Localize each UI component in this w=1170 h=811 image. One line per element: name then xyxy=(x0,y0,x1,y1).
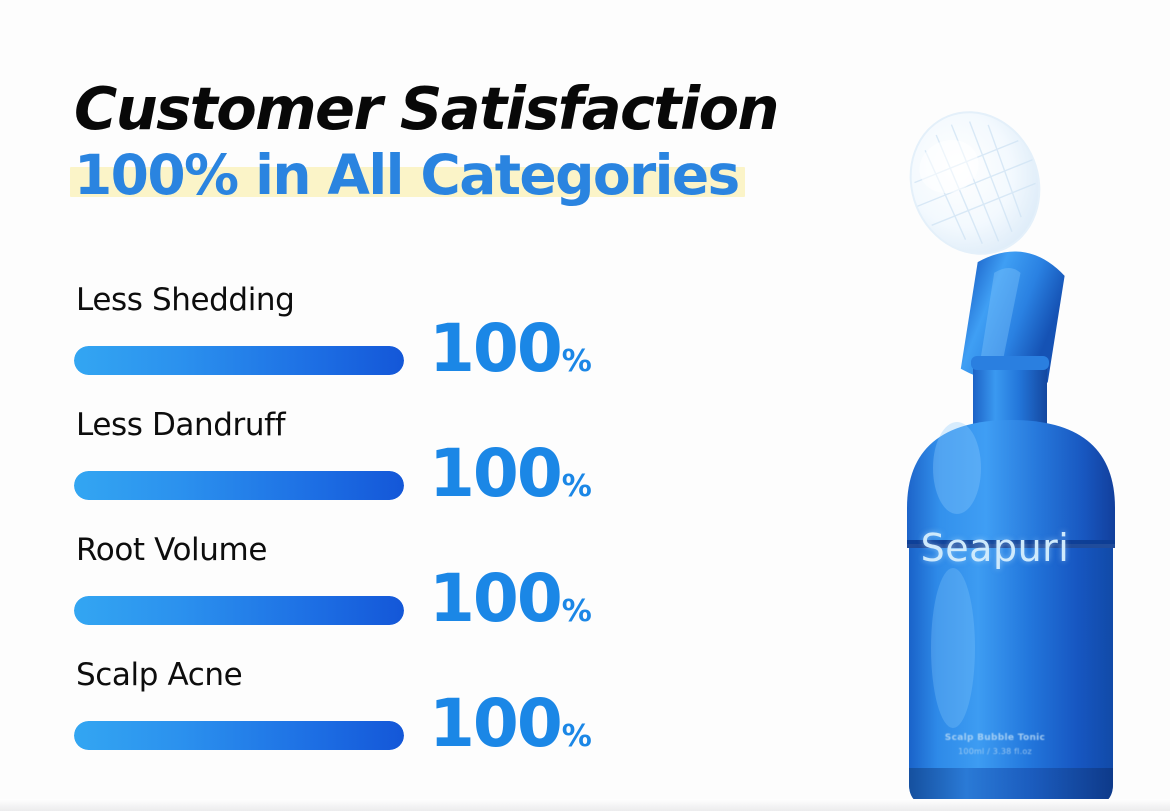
percent-sign: % xyxy=(562,347,592,377)
stat-value-less-dandruff: 100 % xyxy=(429,441,592,507)
bottom-divider xyxy=(0,799,1170,811)
percent-sign: % xyxy=(562,597,592,627)
progress-bar-fill xyxy=(74,721,404,750)
subtitle-wrap: 100% in All Categories xyxy=(74,147,739,205)
progress-bar-fill xyxy=(74,471,404,500)
heading-block: Customer Satisfaction 100% in All Catego… xyxy=(74,78,834,205)
progress-bar-less-dandruff xyxy=(74,471,404,500)
progress-bar-root-volume xyxy=(74,596,404,625)
stat-label-scalp-acne: Scalp Acne xyxy=(76,657,242,693)
progress-bar-less-shedding xyxy=(74,346,404,375)
stat-value-less-shedding: 100 % xyxy=(429,316,592,382)
stat-number: 100 xyxy=(429,566,561,632)
satisfaction-stats-list: Less Shedding 100 % Less Dandruff 100 % … xyxy=(74,282,634,782)
stat-number: 100 xyxy=(429,441,561,507)
neck-ring xyxy=(971,356,1049,370)
stat-row: Less Dandruff 100 % xyxy=(74,407,634,532)
stat-label-less-shedding: Less Shedding xyxy=(76,282,294,318)
bottle-illustration xyxy=(845,108,1145,811)
stat-label-less-dandruff: Less Dandruff xyxy=(76,407,285,443)
stat-row: Scalp Acne 100 % xyxy=(74,657,634,782)
stat-label-root-volume: Root Volume xyxy=(76,532,267,568)
stat-number: 100 xyxy=(429,316,561,382)
progress-bar-scalp-acne xyxy=(74,721,404,750)
stat-row: Less Shedding 100 % xyxy=(74,282,634,407)
product-image: Seapuri Scalp Bubble Tonic 100ml / 3.38 … xyxy=(845,108,1145,811)
body-highlight xyxy=(931,568,975,728)
cap-seam xyxy=(907,540,1115,548)
stat-row: Root Volume 100 % xyxy=(74,532,634,657)
cap-highlight xyxy=(933,422,981,514)
progress-bar-fill xyxy=(74,346,404,375)
page-subtitle: 100% in All Categories xyxy=(74,143,739,207)
stat-value-root-volume: 100 % xyxy=(429,566,592,632)
stat-number: 100 xyxy=(429,691,561,757)
infographic-canvas: Customer Satisfaction 100% in All Catego… xyxy=(0,0,1170,811)
page-title: Customer Satisfaction xyxy=(74,78,834,139)
percent-sign: % xyxy=(562,722,592,752)
progress-bar-fill xyxy=(74,596,404,625)
stat-value-scalp-acne: 100 % xyxy=(429,691,592,757)
brush-head-icon xyxy=(890,108,1061,273)
percent-sign: % xyxy=(562,472,592,502)
